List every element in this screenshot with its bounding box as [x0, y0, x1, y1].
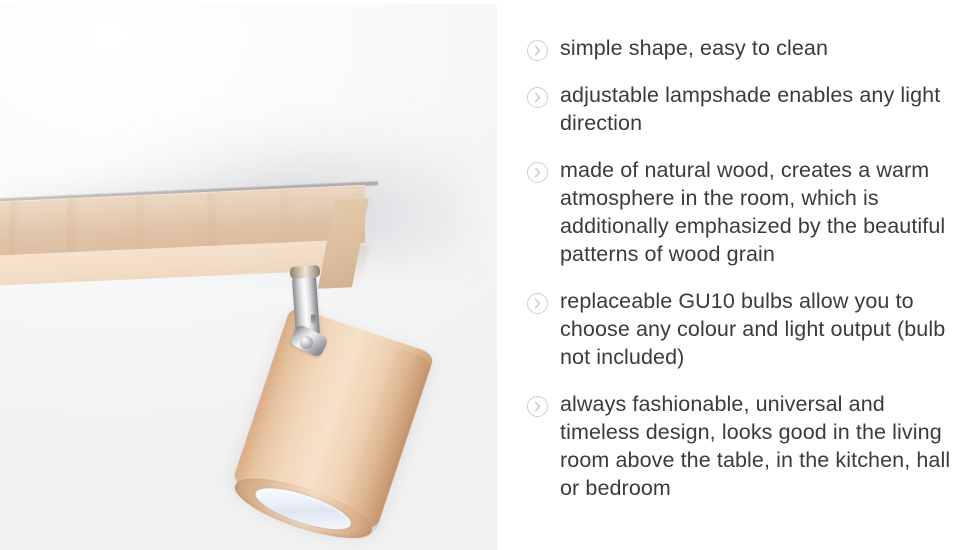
list-item: adjustable lampshade enables any light d…: [527, 81, 964, 137]
chevron-right-circle-icon: [527, 87, 548, 108]
list-item: always fashionable, universal and timele…: [527, 390, 964, 502]
feature-text: made of natural wood, creates a warm atm…: [560, 156, 964, 268]
lamp-head: [223, 306, 435, 550]
list-item: replaceable GU10 bulbs allow you to choo…: [527, 287, 964, 371]
feature-text: replaceable GU10 bulbs allow you to choo…: [560, 287, 964, 371]
arm-collar: [290, 265, 321, 279]
feature-text: adjustable lampshade enables any light d…: [560, 81, 964, 137]
chevron-right-circle-icon: [527, 293, 548, 314]
ceiling-bar: [0, 199, 378, 289]
feature-list: simple shape, easy to clean adjustable l…: [527, 34, 964, 502]
product-feature-panel: simple shape, easy to clean adjustable l…: [0, 0, 970, 550]
feature-list-panel: simple shape, easy to clean adjustable l…: [497, 0, 970, 550]
product-photo: [0, 0, 497, 550]
feature-text: always fashionable, universal and timele…: [560, 390, 964, 502]
photo-top-edge: [0, 0, 497, 4]
feature-text: simple shape, easy to clean: [560, 34, 828, 62]
list-item: made of natural wood, creates a warm atm…: [527, 156, 964, 268]
chevron-right-circle-icon: [527, 40, 548, 61]
chevron-right-circle-icon: [527, 396, 548, 417]
chevron-right-circle-icon: [527, 162, 548, 183]
pivot-screw: [300, 336, 313, 349]
photo-canvas: [0, 3, 497, 550]
list-item: simple shape, easy to clean: [527, 34, 964, 62]
